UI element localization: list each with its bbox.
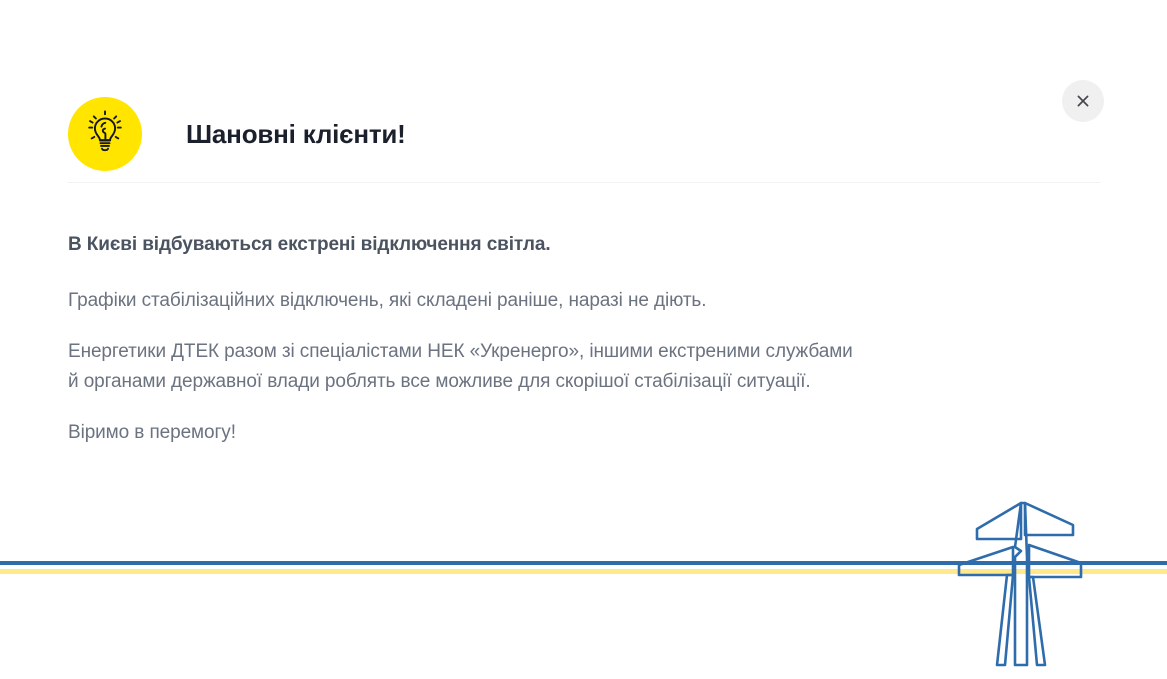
notice-screen: Шановні клієнти! В Києві відбуваються ек…: [0, 0, 1167, 679]
paragraph-1: Графіки стабілізаційних відключень, які …: [68, 286, 1068, 315]
paragraph-line: Віримо в перемогу!: [68, 418, 1068, 447]
modal-header: Шановні клієнти!: [68, 86, 1100, 182]
notice-modal: Шановні клієнти! В Києві відбуваються ек…: [0, 0, 1167, 679]
page-title: Шановні клієнти!: [186, 119, 406, 150]
close-icon: [1075, 93, 1091, 109]
paragraph-line: Графіки стабілізаційних відключень, які …: [68, 286, 1068, 315]
lightbulb-icon: [68, 97, 142, 171]
paragraph-3: Віримо в перемогу!: [68, 418, 1068, 447]
header-divider: [68, 182, 1100, 183]
paragraph-line: й органами державної влади роблять все м…: [68, 367, 1068, 396]
lead-text: В Києві відбуваються екстрені відключенн…: [68, 232, 1068, 258]
power-tower-icon: [955, 495, 1090, 675]
close-button[interactable]: [1062, 80, 1104, 122]
paragraph-line: Енергетики ДТЕК разом зі спеціалістами Н…: [68, 337, 1068, 366]
paragraph-2: Енергетики ДТЕК разом зі спеціалістами Н…: [68, 337, 1068, 396]
modal-body: В Києві відбуваються екстрені відключенн…: [68, 232, 1068, 447]
